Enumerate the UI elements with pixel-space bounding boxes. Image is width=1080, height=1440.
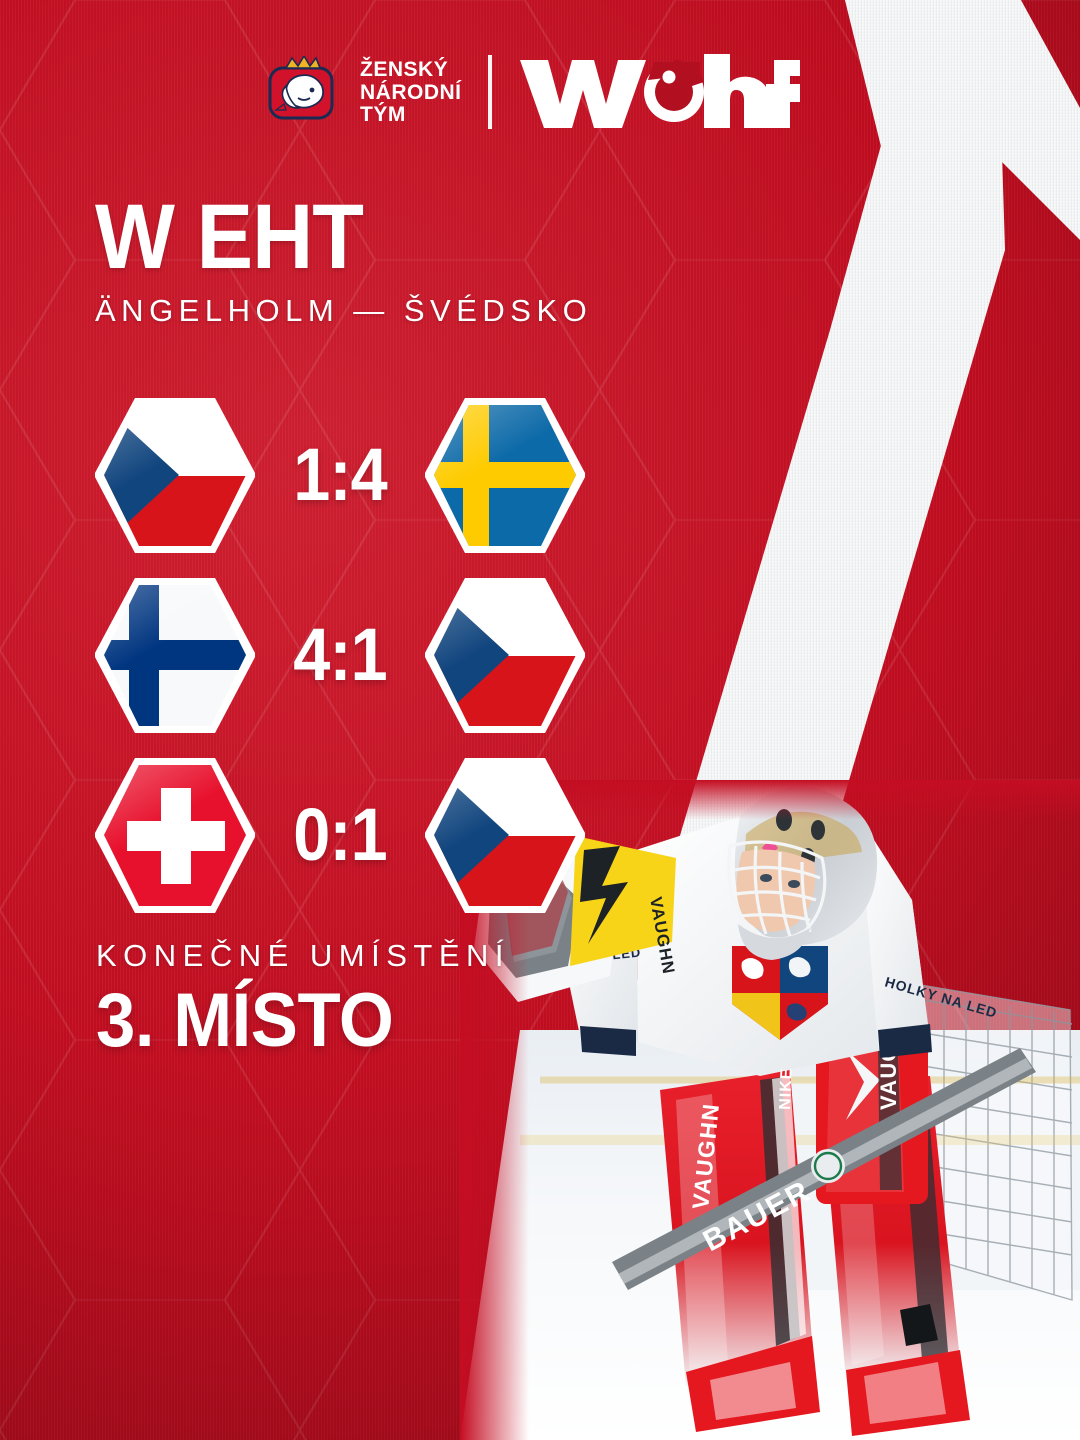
flag-finland-icon	[95, 578, 255, 733]
match-row: 0:1	[95, 745, 585, 925]
final-placement-block: KONEČNÉ UMÍSTĚNÍ 3. MÍSTO	[96, 938, 510, 1058]
match-score: 4:1	[264, 618, 417, 692]
match-score: 1:4	[264, 438, 417, 512]
weht-logo-icon	[518, 52, 800, 132]
flag-sweden-icon	[425, 398, 585, 553]
match-list: 1:4	[95, 385, 585, 925]
match-row: 1:4	[95, 385, 585, 565]
page-subtitle: ÄNGELHOLM — ŠVÉDSKO	[95, 293, 592, 329]
title-block: W EHT ÄNGELHOLM — ŠVÉDSKO	[95, 196, 592, 329]
crest-text: ŽENSKÝ NÁRODNÍ TÝM	[360, 57, 462, 127]
final-placement-value: 3. MÍSTO	[96, 984, 481, 1058]
czech-lion-crest-icon	[268, 56, 334, 128]
poster-stage: VAUGHN VAUGHN VAUGHN CCM	[0, 0, 1080, 1440]
header: ŽENSKÝ NÁRODNÍ TÝM	[268, 52, 800, 132]
vertical-divider-icon	[488, 55, 492, 129]
match-row: 4:1	[95, 565, 585, 745]
flag-czechia-icon	[425, 578, 585, 733]
final-placement-label: KONEČNÉ UMÍSTĚNÍ	[96, 938, 510, 974]
page-title: W EHT	[95, 196, 552, 279]
flag-czechia-icon	[95, 398, 255, 553]
svg-text:NIKE: NIKE	[777, 1067, 795, 1110]
flag-switzerland-icon	[95, 758, 255, 913]
match-score: 0:1	[264, 798, 417, 872]
flag-czechia-icon	[425, 758, 585, 913]
